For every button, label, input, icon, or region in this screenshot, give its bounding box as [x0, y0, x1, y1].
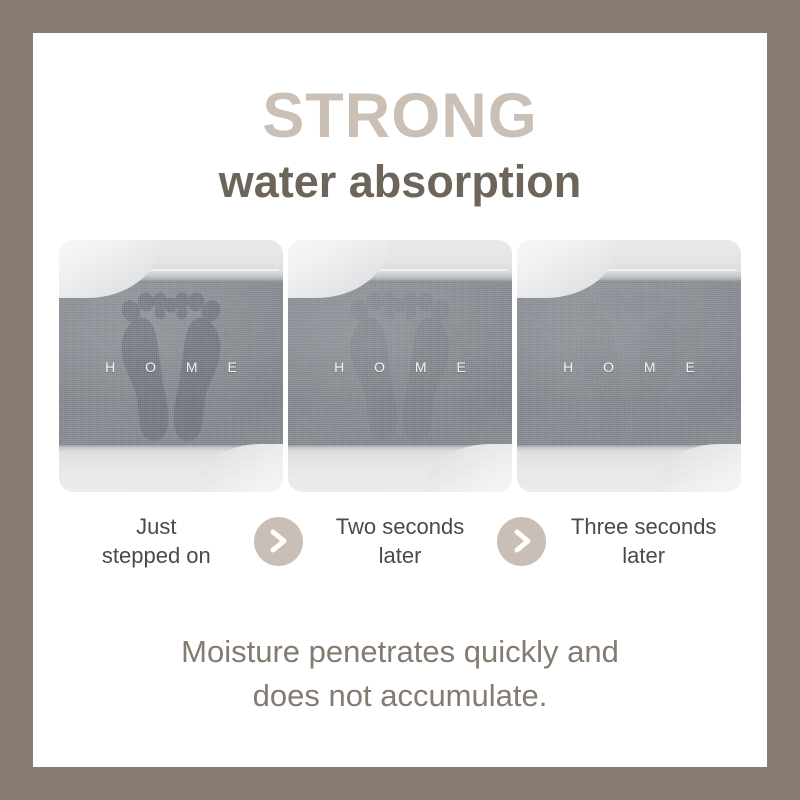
mat-panel-2: H O M E [288, 240, 512, 492]
mat-panels-row: H O M E [59, 240, 741, 492]
arrow-separator-1-slot [254, 517, 303, 566]
tagline-line1: Moisture penetrates quickly and [59, 630, 741, 674]
chevron-right-icon [254, 517, 303, 566]
mat-panel-3: H O M E [517, 240, 741, 492]
tagline-line2: does not accumulate. [59, 674, 741, 718]
footprints-dry-icon [534, 276, 724, 456]
caption-panel-1: Just stepped on [59, 512, 254, 570]
tagline-block: Moisture penetrates quickly and does not… [59, 630, 741, 718]
panel-captions-row: Just stepped on Two seconds later [59, 505, 741, 577]
caption-panel-2: Two seconds later [303, 512, 498, 570]
bath-mat-image-1: H O M E [59, 240, 283, 492]
bath-mat-image-2: H O M E [288, 240, 512, 492]
footprints-wet-icon [76, 276, 266, 456]
caption-panel-3-line1: Three seconds [546, 512, 741, 541]
footprints-drying-icon [305, 276, 495, 456]
bath-mat-image-3: H O M E [517, 240, 741, 492]
arrow-separator-2-slot [497, 517, 546, 566]
mat-panel-1: H O M E [59, 240, 283, 492]
product-feature-poster: STRONG water absorption [0, 0, 800, 800]
chevron-right-icon [497, 517, 546, 566]
caption-panel-2-line2: later [303, 541, 498, 570]
caption-panel-1-line2: stepped on [59, 541, 254, 570]
caption-panel-1-line1: Just [59, 512, 254, 541]
headline-block: STRONG water absorption [33, 85, 767, 205]
caption-panel-2-line1: Two seconds [303, 512, 498, 541]
caption-panel-3: Three seconds later [546, 512, 741, 570]
poster-inner-canvas: STRONG water absorption [33, 33, 767, 767]
headline-secondary: water absorption [33, 158, 767, 205]
headline-primary: STRONG [33, 85, 767, 148]
caption-panel-3-line2: later [546, 541, 741, 570]
